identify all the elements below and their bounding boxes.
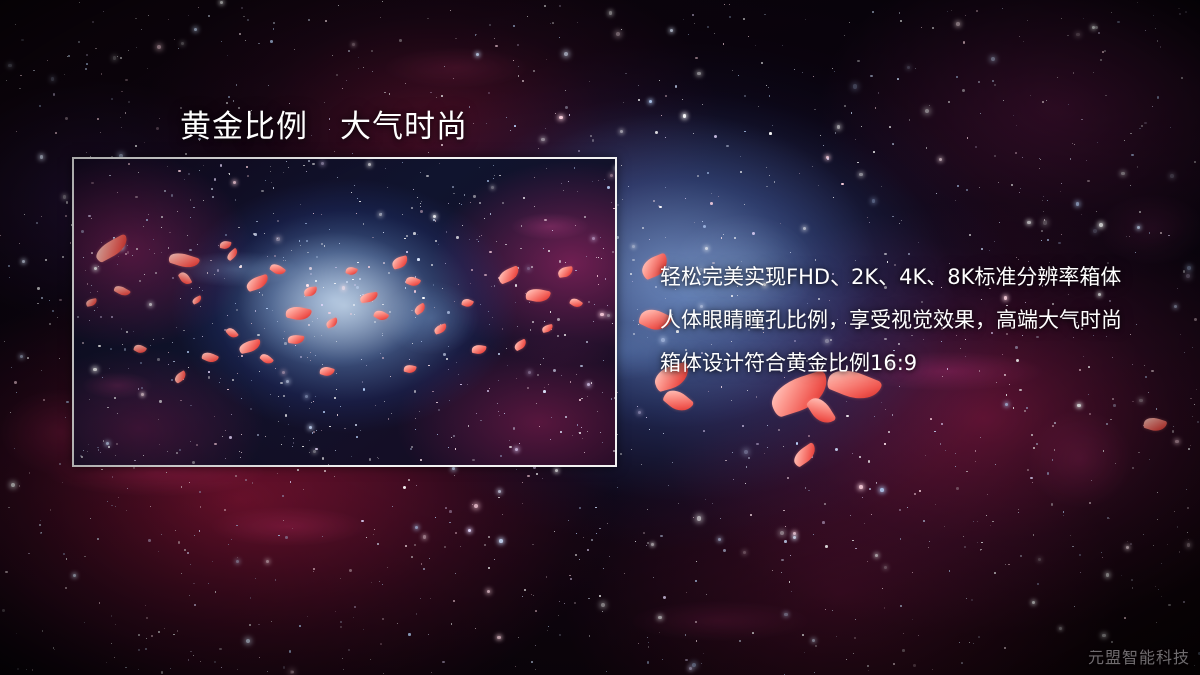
panel-nebula-filaments bbox=[74, 159, 615, 465]
nebula-image-frame bbox=[72, 157, 617, 467]
presentation-slide: 黄金比例 大气时尚 轻松完美实现FHD、2K、4K、8K标准分辨率箱体 人体眼睛… bbox=[0, 0, 1200, 675]
body-line-1: 轻松完美实现FHD、2K、4K、8K标准分辨率箱体 bbox=[660, 256, 1180, 299]
page-title: 黄金比例 大气时尚 bbox=[180, 101, 468, 146]
body-text-block: 轻松完美实现FHD、2K、4K、8K标准分辨率箱体 人体眼睛瞳孔比例，享受视觉效… bbox=[660, 256, 1180, 385]
body-line-2: 人体眼睛瞳孔比例，享受视觉效果，高端大气时尚 bbox=[660, 299, 1180, 342]
body-line-3: 箱体设计符合黄金比例16:9 bbox=[660, 342, 1180, 385]
company-watermark: 元盟智能科技 bbox=[1088, 644, 1190, 668]
